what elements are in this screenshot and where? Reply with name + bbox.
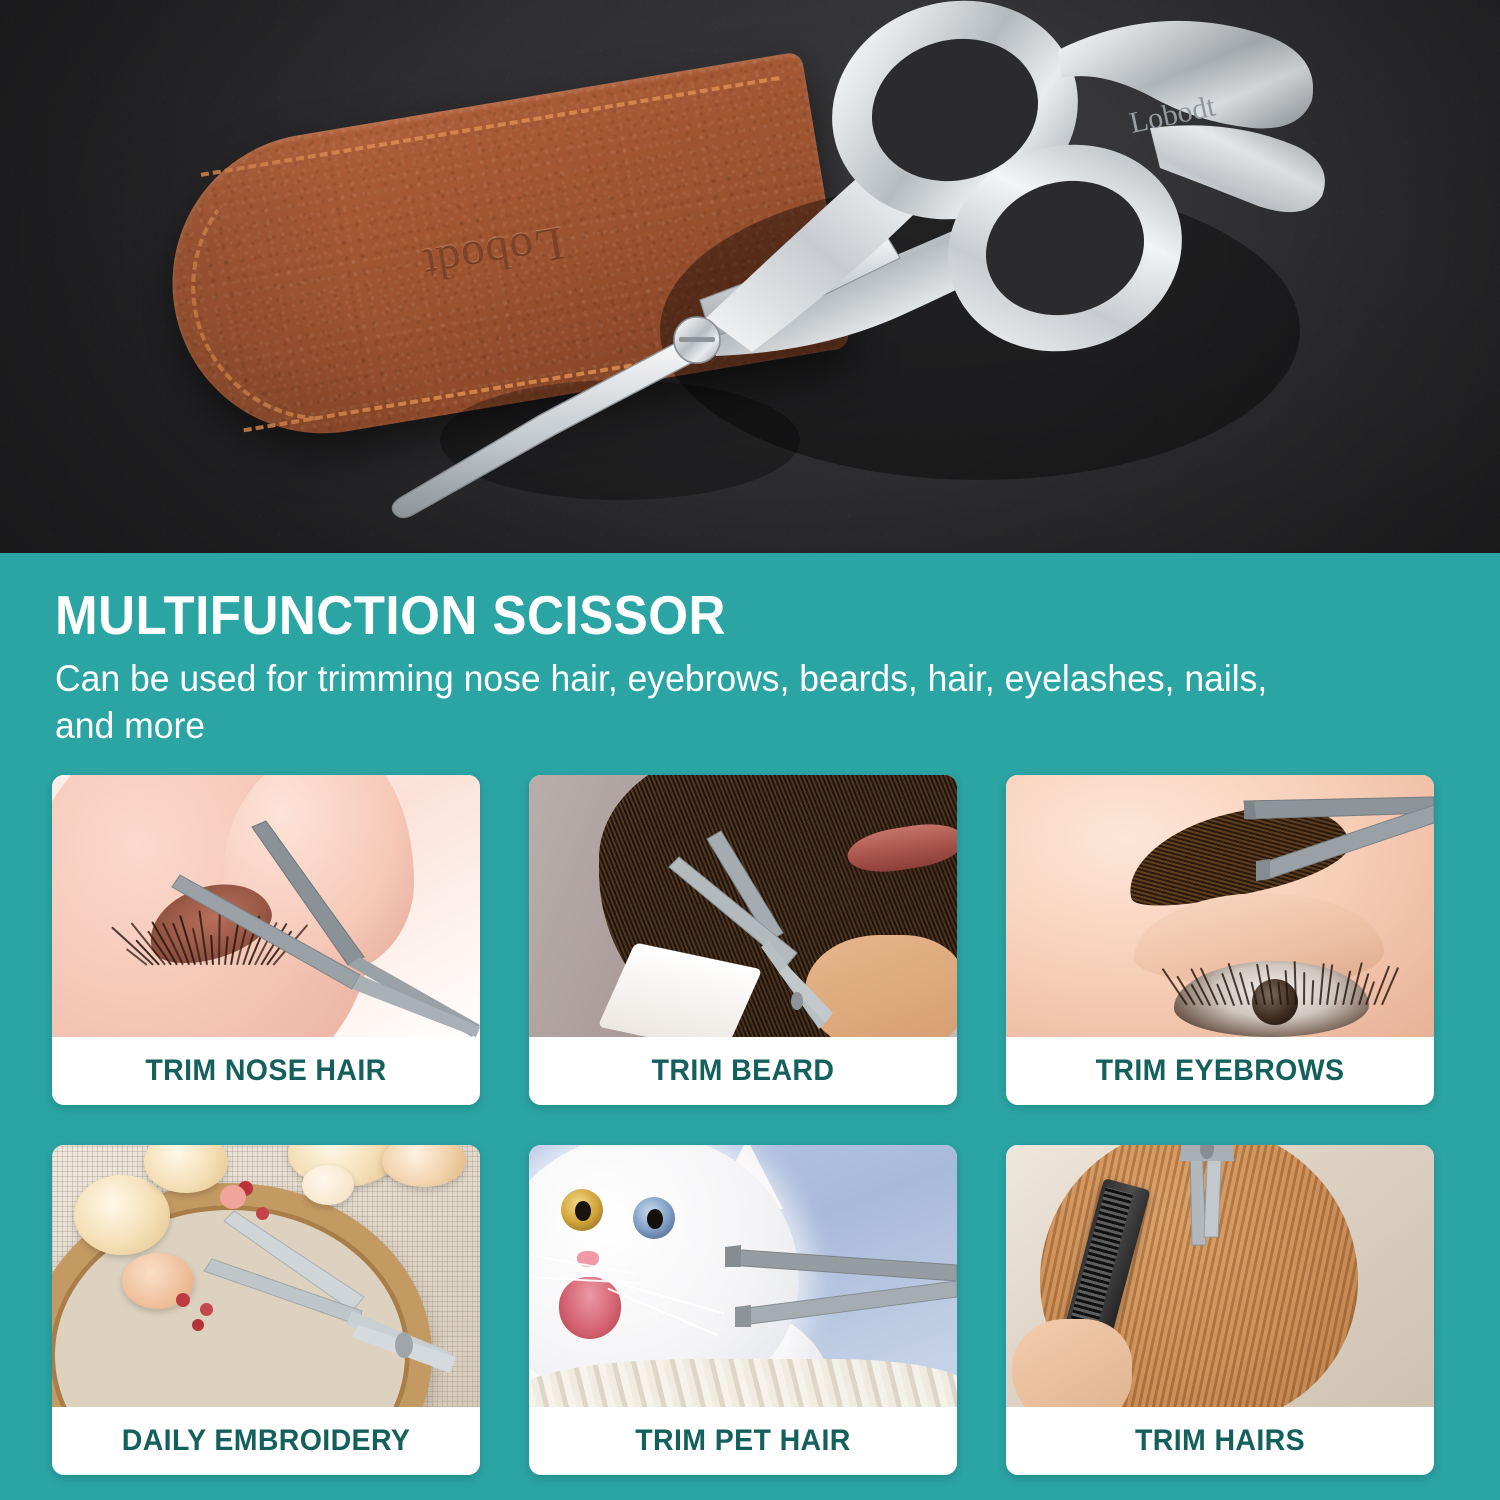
card-caption-beard: TRIM BEARD	[540, 1037, 947, 1105]
hero-vignette	[0, 0, 1500, 553]
use-case-card-eyebrows[interactable]: TRIM EYEBROWS	[1006, 775, 1434, 1105]
use-case-card-nose-hair[interactable]: TRIM NOSE HAIR	[52, 775, 480, 1105]
use-case-card-beard[interactable]: TRIM BEARD	[529, 775, 957, 1105]
card-caption-pet-hair: TRIM PET HAIR	[540, 1407, 947, 1475]
card-caption-hairs: TRIM HAIRS	[1017, 1407, 1424, 1475]
card-photo-beard	[529, 775, 957, 1037]
card-photo-pet-hair	[529, 1145, 957, 1407]
product-hero-photo: Lobodt	[0, 0, 1500, 553]
card-caption-embroidery: DAILY EMBROIDERY	[63, 1407, 470, 1475]
use-case-grid: TRIM NOSE HAIR TRI	[52, 775, 1448, 1475]
scissor-blades-overlay-eyebrow	[1006, 775, 1434, 1037]
page-subtitle: Can be used for trimming nose hair, eyeb…	[55, 655, 1332, 750]
card-photo-embroidery	[52, 1145, 480, 1407]
scissor-blades-overlay-cat	[529, 1145, 957, 1407]
card-photo-nose-hair	[52, 775, 480, 1037]
scissor-blades-overlay-embroidery	[52, 1145, 480, 1407]
use-case-card-embroidery[interactable]: DAILY EMBROIDERY	[52, 1145, 480, 1475]
scissor-blades-overlay-nose	[52, 775, 480, 1037]
scissor-blades-overlay-hairs	[1006, 1145, 1434, 1407]
card-photo-eyebrows	[1006, 775, 1434, 1037]
use-case-card-pet-hair[interactable]: TRIM PET HAIR	[529, 1145, 957, 1475]
use-case-card-hairs[interactable]: TRIM HAIRS	[1006, 1145, 1434, 1475]
page-title: MULTIFUNCTION SCISSOR	[55, 583, 726, 647]
card-photo-hairs	[1006, 1145, 1434, 1407]
scissor-blades-overlay-beard	[529, 775, 957, 1037]
card-caption-nose-hair: TRIM NOSE HAIR	[63, 1037, 470, 1105]
card-caption-eyebrows: TRIM EYEBROWS	[1017, 1037, 1424, 1105]
info-panel: MULTIFUNCTION SCISSOR Can be used for tr…	[0, 553, 1500, 1500]
